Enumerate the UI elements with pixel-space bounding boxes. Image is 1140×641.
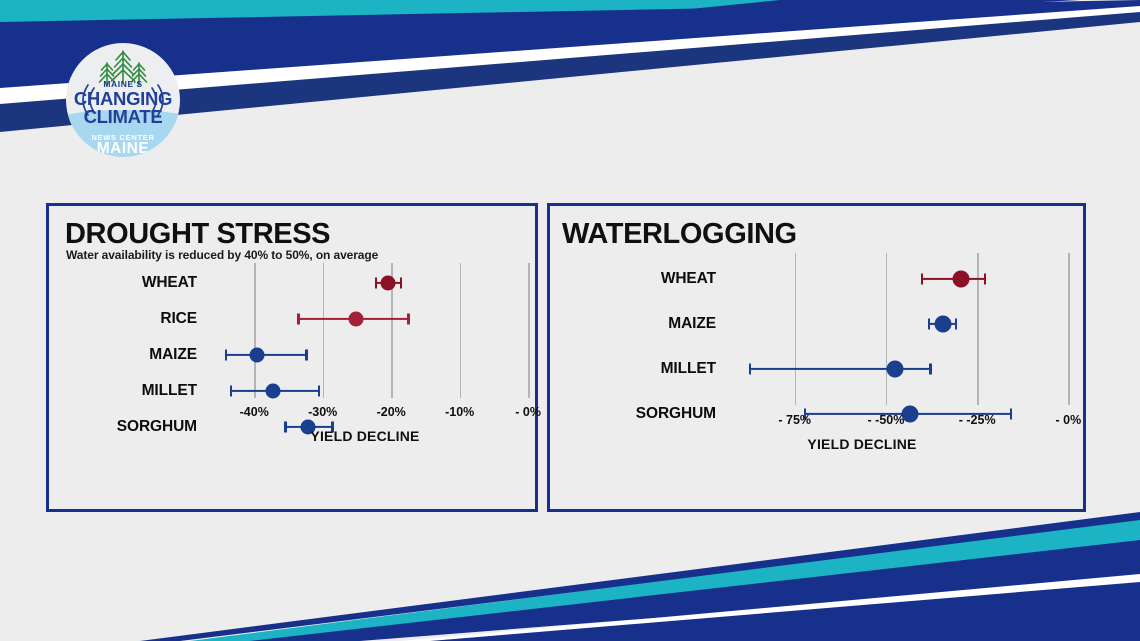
- drought-stress-plot: WHEATRICEMAIZEMILLETSORGHUM-40%-30%-20%-…: [49, 263, 535, 458]
- bottom-navy-band-2: [250, 540, 1140, 641]
- category-label: WHEAT: [49, 274, 197, 292]
- category-label: MILLET: [49, 382, 197, 400]
- confidence-interval-line: [225, 354, 308, 356]
- ci-cap-upper: [400, 278, 402, 289]
- ci-cap-lower: [230, 386, 232, 397]
- ci-cap-upper: [407, 314, 409, 325]
- gridline: [528, 263, 530, 398]
- gridline: [254, 263, 256, 398]
- waterlogging-plot: WHEATMAIZEMILLETSORGHUM- 75%- -50%- -25%…: [550, 253, 1083, 458]
- data-point-maize: [249, 348, 264, 363]
- ci-cap-upper: [984, 274, 986, 285]
- data-point-maize: [934, 316, 951, 333]
- ci-cap-lower: [225, 350, 227, 361]
- category-label: MAIZE: [550, 315, 716, 333]
- category-label: MILLET: [550, 360, 716, 378]
- ci-cap-upper: [1010, 409, 1012, 420]
- x-axis-title: YIELD DECLINE: [807, 436, 916, 452]
- infographic-stage: MAINE'S CHANGING CLIMATE NEWS CENTER MAI…: [0, 0, 1140, 641]
- x-axis-tick-label: -10%: [445, 405, 474, 419]
- drought-stress-panel: DROUGHT STRESS Water availability is red…: [46, 203, 538, 512]
- gridline: [323, 263, 325, 398]
- data-point-wheat: [952, 271, 969, 288]
- ci-cap-lower: [375, 278, 377, 289]
- category-label: RICE: [49, 310, 197, 328]
- x-axis-tick-label: - 0%: [1056, 413, 1082, 427]
- bottom-white-band: [400, 574, 1140, 641]
- drought-stress-title: DROUGHT STRESS: [65, 218, 330, 251]
- logo-maine-network-text: MAINE: [66, 140, 180, 157]
- ci-cap-lower: [297, 314, 299, 325]
- x-axis-tick-label: - -25%: [959, 413, 996, 427]
- ci-cap-lower: [928, 319, 930, 330]
- ci-cap-upper: [955, 319, 957, 330]
- gridline: [795, 253, 797, 405]
- x-axis-tick-label: -40%: [240, 405, 269, 419]
- category-label: MAIZE: [49, 346, 197, 364]
- bottom-navy-band-3: [430, 582, 1140, 641]
- drought-stress-subtitle: Water availability is reduced by 40% to …: [66, 248, 378, 262]
- x-axis-tick-label: - 0%: [515, 405, 541, 419]
- x-axis-tick-label: -20%: [377, 405, 406, 419]
- data-point-wheat: [381, 276, 396, 291]
- category-label: SORGHUM: [550, 405, 716, 423]
- bottom-navy-band-1: [140, 512, 1140, 641]
- ci-cap-lower: [921, 274, 923, 285]
- bottom-teal-band: [190, 520, 1140, 641]
- data-point-millet: [887, 361, 904, 378]
- ci-cap-upper: [305, 350, 307, 361]
- x-axis-title: YIELD DECLINE: [310, 428, 419, 444]
- x-axis-tick-label: - -50%: [868, 413, 905, 427]
- ci-cap-lower: [284, 422, 286, 433]
- x-axis-tick-label: - 75%: [778, 413, 811, 427]
- ci-cap-upper: [929, 364, 931, 375]
- category-label: WHEAT: [550, 270, 716, 288]
- gridline: [460, 263, 462, 398]
- data-point-rice: [349, 312, 364, 327]
- data-point-millet: [266, 384, 281, 399]
- waterlogging-title: WATERLOGGING: [562, 218, 797, 251]
- waterlogging-panel: WATERLOGGING WHEATMAIZEMILLETSORGHUM- 75…: [547, 203, 1086, 512]
- category-label: SORGHUM: [49, 418, 197, 436]
- ci-cap-lower: [749, 364, 751, 375]
- confidence-interval-line: [749, 368, 931, 370]
- ci-cap-upper: [318, 386, 320, 397]
- gridline: [1068, 253, 1070, 405]
- logo-climate-text: CLIMATE: [66, 107, 180, 126]
- gridline: [977, 253, 979, 405]
- maines-changing-climate-logo: MAINE'S CHANGING CLIMATE NEWS CENTER MAI…: [66, 43, 180, 157]
- x-axis-tick-label: -30%: [308, 405, 337, 419]
- gridline: [886, 253, 888, 405]
